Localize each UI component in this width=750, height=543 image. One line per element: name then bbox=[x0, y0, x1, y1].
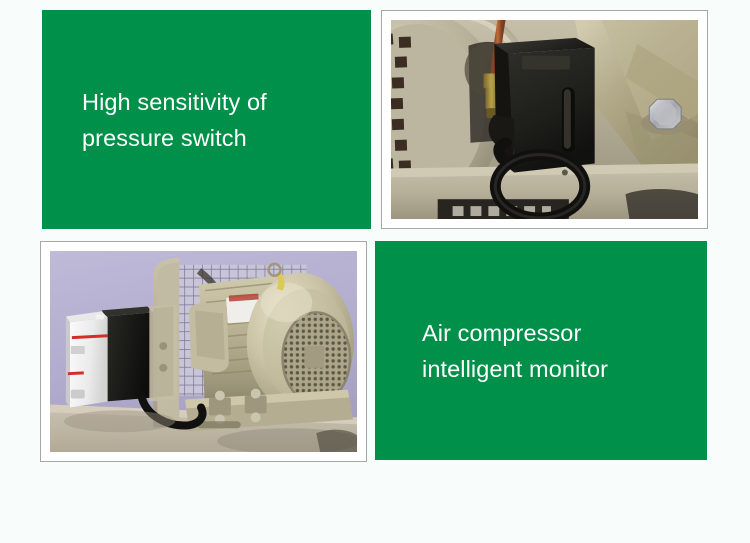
photo-frame-pressure-switch bbox=[381, 10, 708, 229]
caption-panel-pressure-switch: High sensitivity of pressure switch bbox=[42, 10, 371, 229]
image-collage: High sensitivity of pressure switch bbox=[0, 0, 750, 543]
pressure-switch-photo bbox=[391, 20, 698, 219]
photo-frame-compressor-monitor bbox=[40, 241, 367, 462]
caption-text-intelligent-monitor: Air compressor intelligent monitor bbox=[375, 315, 707, 387]
caption-panel-intelligent-monitor: Air compressor intelligent monitor bbox=[375, 241, 707, 460]
compressor-monitor-photo bbox=[50, 251, 357, 452]
caption-text-pressure-switch: High sensitivity of pressure switch bbox=[42, 84, 371, 156]
